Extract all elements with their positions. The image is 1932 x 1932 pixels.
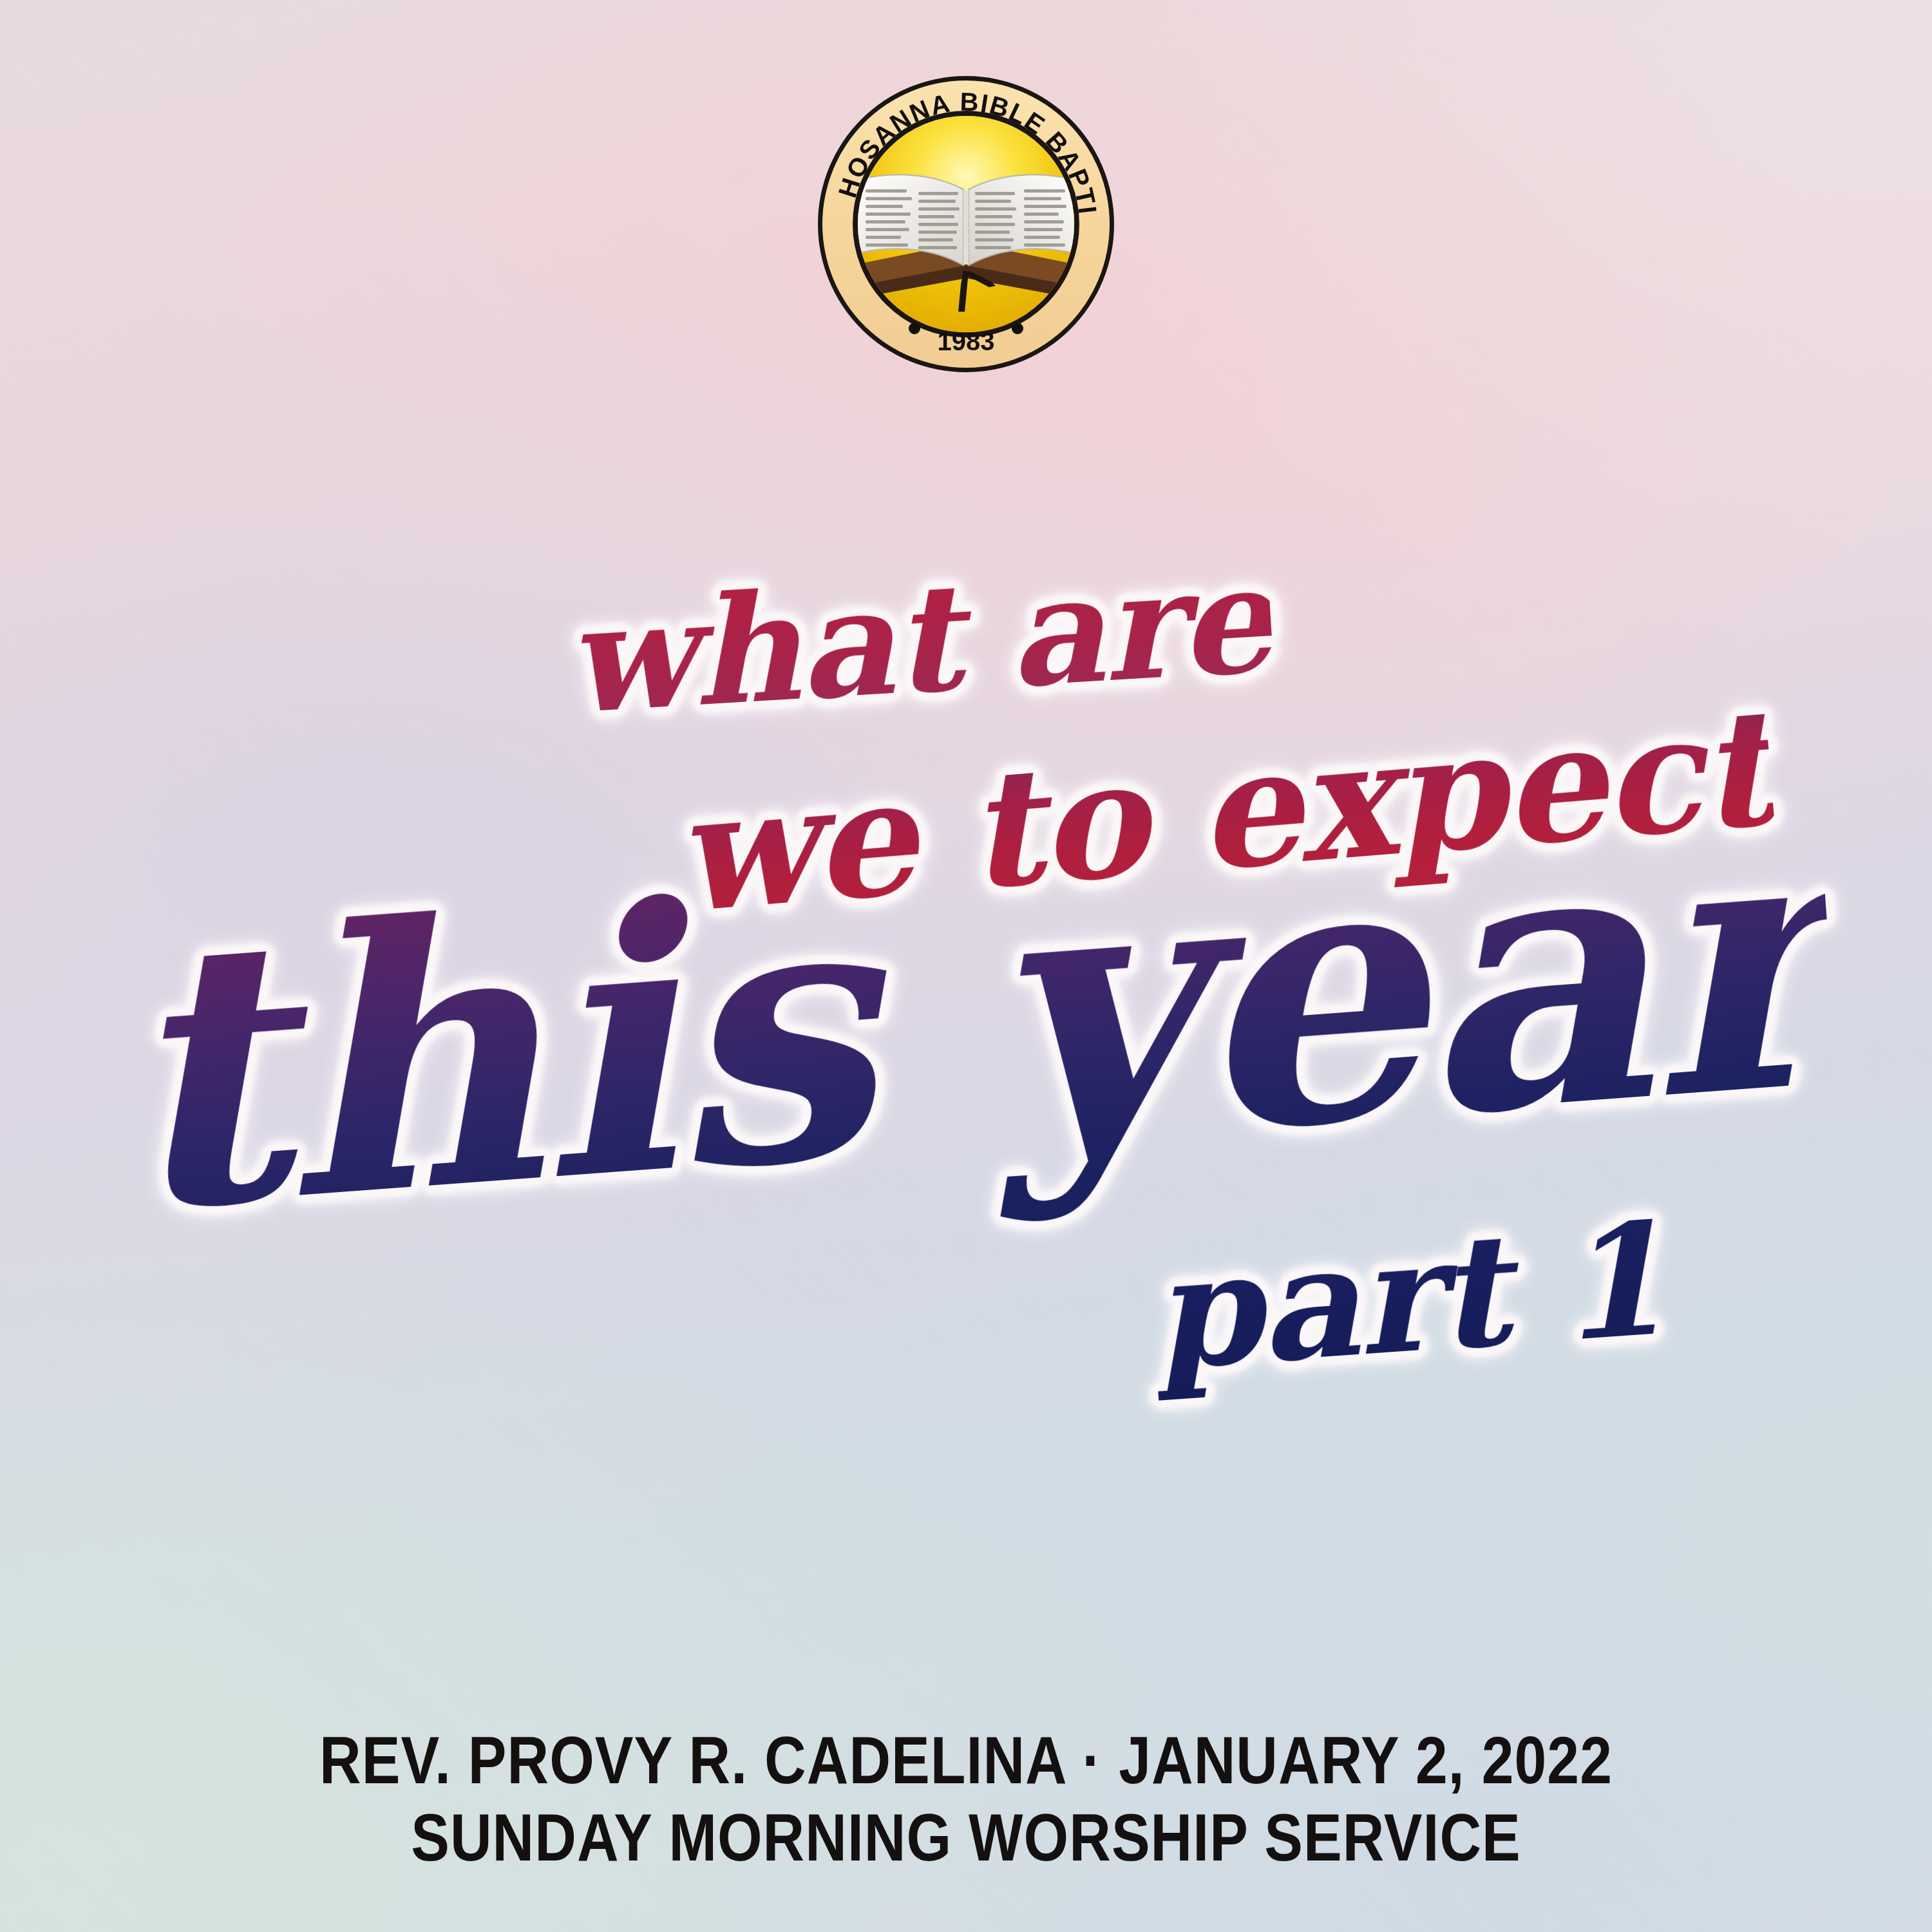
church-logo: HOSANNA BIBLE BAPTIST CHURCH 1983 xyxy=(814,72,1118,376)
sermon-poster: HOSANNA BIBLE BAPTIST CHURCH 1983 what a… xyxy=(0,0,1932,1932)
footer-credits: REV. PROVY R. CADELINA · JANUARY 2, 2022… xyxy=(0,1721,1932,1877)
title-line-part-1: part 1 xyxy=(1146,1188,1669,1405)
footer-speaker-and-date: REV. PROVY R. CADELINA · JANUARY 2, 2022 xyxy=(135,1721,1797,1799)
logo-dot-left xyxy=(909,323,920,334)
title-line-what-are: what are xyxy=(562,531,1276,746)
sermon-title: what are we to expect this year part 1 xyxy=(0,567,1932,1468)
footer-service-name: SUNDAY MORNING WORSHIP SERVICE xyxy=(135,1799,1797,1877)
logo-dot-right xyxy=(1012,323,1023,334)
open-bible-illustration xyxy=(854,175,1078,312)
logo-year-text: 1983 xyxy=(938,327,995,355)
